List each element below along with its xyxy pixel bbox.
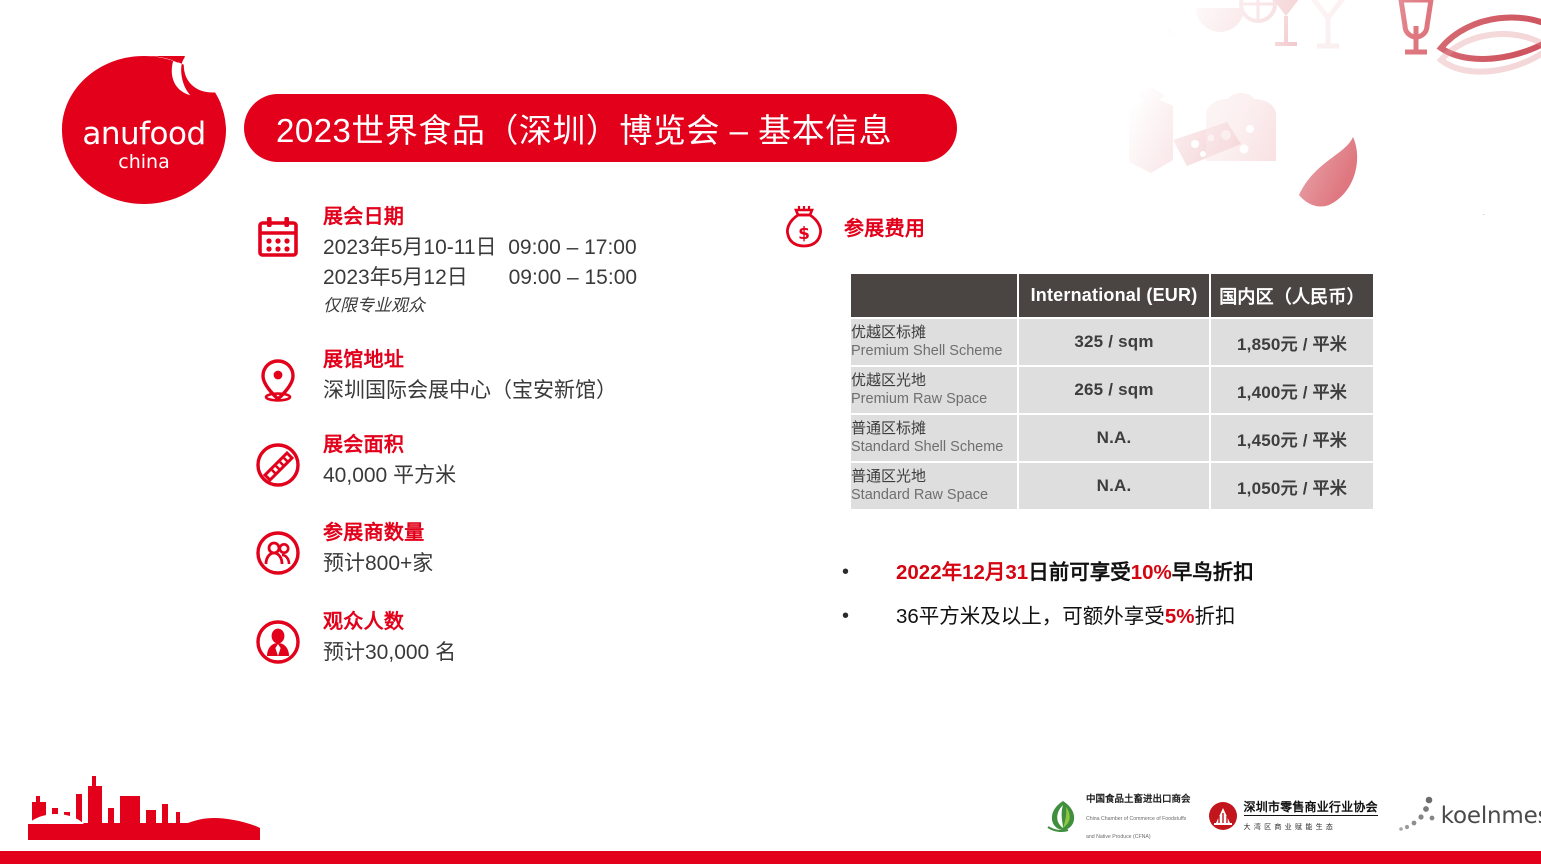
table-header-domestic: 国内区（人民币） bbox=[1211, 274, 1373, 317]
info-title-exhibitors: 参展商数量 bbox=[323, 521, 810, 546]
cell-domestic: 1,050元 / 平米 bbox=[1211, 463, 1373, 509]
table-row: 优越区标摊 Premium Shell Scheme 325 / sqm 1,8… bbox=[851, 319, 1373, 365]
info-line-date-1: 2023年5月10-11日 09:00 – 17:00 bbox=[323, 233, 810, 263]
partner-name-en-2: and Native Produce (CFNA) bbox=[1086, 834, 1151, 840]
table-header-row: International (EUR) 国内区（人民币） bbox=[851, 274, 1373, 317]
person-circle-icon bbox=[250, 614, 306, 670]
page-title: 2023世界食品（深圳）博览会 – 基本信息 bbox=[276, 104, 892, 152]
info-title-dates: 展会日期 bbox=[323, 205, 810, 230]
food-icons-collage bbox=[981, 0, 1541, 215]
cell-international: N.A. bbox=[1019, 463, 1209, 509]
info-block-dates: 展会日期 2023年5月10-11日 09:00 – 17:00 2023年5月… bbox=[250, 205, 810, 318]
partner-koelnmesse: koelnmesse bbox=[1399, 796, 1541, 836]
table-row: 优越区光地 Premium Raw Space 265 / sqm 1,400元… bbox=[851, 367, 1373, 413]
info-block-exhibitors: 参展商数量 预计800+家 bbox=[250, 521, 810, 579]
info-line-area: 40,000 平方米 bbox=[323, 461, 810, 491]
slide-canvas: anufood china 2023世界食品（深圳）博览会 – 基本信息 bbox=[0, 0, 1541, 867]
bullet-seg-red: 10% bbox=[1131, 561, 1172, 584]
fee-section-header: $ 参展费用 bbox=[778, 200, 925, 252]
cell-international: N.A. bbox=[1019, 415, 1209, 461]
red-footer-bar bbox=[0, 851, 1541, 864]
info-title-area: 展会面积 bbox=[323, 433, 810, 458]
list-item: • 36平方米及以上，可额外享受5%折扣 bbox=[838, 602, 1458, 632]
row-label-cn: 优越区标摊 bbox=[851, 323, 1017, 342]
exhibition-price-table: International (EUR) 国内区（人民币） 优越区标摊 Premi… bbox=[849, 272, 1375, 511]
bullet-marker: • bbox=[838, 602, 896, 631]
ruler-circle-icon bbox=[250, 437, 306, 493]
row-label-en: Premium Shell Scheme bbox=[851, 342, 1017, 361]
table-header-international: International (EUR) bbox=[1019, 274, 1209, 317]
info-title-venue: 展馆地址 bbox=[323, 348, 810, 373]
partner-name-en-1: China Chamber of Commerce of Foodstuffs bbox=[1086, 816, 1186, 822]
two-people-circle-icon bbox=[250, 525, 306, 581]
table-row: 普通区光地 Standard Raw Space N.A. 1,050元 / 平… bbox=[851, 463, 1373, 509]
row-label-en: Standard Raw Space bbox=[851, 486, 1017, 505]
bullet-text-early-bird: 2022年12月31日前可享受10%早鸟折扣 bbox=[896, 558, 1254, 588]
anufood-china-logo: anufood china bbox=[62, 56, 226, 204]
row-label-cn: 普通区光地 bbox=[851, 467, 1017, 486]
collage-fade-overlay bbox=[981, 0, 1541, 215]
bullet-seg-black: 折扣 bbox=[1194, 605, 1235, 628]
info-title-visitors: 观众人数 bbox=[323, 610, 810, 635]
fee-section-title: 参展费用 bbox=[844, 212, 925, 241]
cell-domestic: 1,400元 / 平米 bbox=[1211, 367, 1373, 413]
logo-wordmark: anufood china bbox=[62, 56, 226, 204]
svg-text:$: $ bbox=[798, 224, 810, 244]
bullet-text-area-discount: 36平方米及以上，可额外享受5%折扣 bbox=[896, 602, 1235, 632]
table-row: 普通区标摊 Standard Shell Scheme N.A. 1,450元 … bbox=[851, 415, 1373, 461]
info-line-date-2: 2023年5月12日 09:00 – 15:00 bbox=[323, 263, 810, 293]
partner-shenzhen-retail: 深圳市零售商业行业协会 大湾区商业赋能生态 bbox=[1208, 798, 1378, 834]
location-pin-icon bbox=[250, 352, 306, 408]
table-head: International (EUR) 国内区（人民币） bbox=[851, 274, 1373, 317]
bullet-marker: • bbox=[838, 558, 896, 587]
table-header-blank bbox=[851, 274, 1017, 317]
table-body: 优越区标摊 Premium Shell Scheme 325 / sqm 1,8… bbox=[851, 319, 1373, 509]
partner-name-koelnmesse: koelnmesse bbox=[1441, 803, 1541, 829]
bullet-seg-black: 早鸟折扣 bbox=[1172, 561, 1254, 584]
row-label-cn: 普通区标摊 bbox=[851, 419, 1017, 438]
row-label-premium-raw: 优越区光地 Premium Raw Space bbox=[851, 367, 1017, 413]
bullet-seg-red: 5% bbox=[1165, 605, 1195, 628]
logo-subword: china bbox=[118, 150, 169, 176]
partner-name-cn: 深圳市零售商业行业协会 bbox=[1244, 800, 1378, 816]
cell-domestic: 1,450元 / 平米 bbox=[1211, 415, 1373, 461]
bullet-seg-black: 日前可享受 bbox=[1028, 561, 1131, 584]
info-line-exhibitors: 预计800+家 bbox=[323, 549, 810, 579]
event-info-list: 展会日期 2023年5月10-11日 09:00 – 17:00 2023年5月… bbox=[250, 205, 810, 688]
slide-title-banner: 2023世界食品（深圳）博览会 – 基本信息 bbox=[244, 94, 957, 162]
bullet-seg-red: 2022年12月31 bbox=[896, 561, 1028, 584]
cell-international: 325 / sqm bbox=[1019, 319, 1209, 365]
row-label-en: Premium Raw Space bbox=[851, 390, 1017, 409]
row-label-en: Standard Shell Scheme bbox=[851, 438, 1017, 457]
info-line-visitors: 预计30,000 名 bbox=[323, 638, 810, 668]
shenzhen-retail-association-logo bbox=[1208, 801, 1238, 831]
row-label-standard-shell: 普通区标摊 Standard Shell Scheme bbox=[851, 415, 1017, 461]
cell-international: 265 / sqm bbox=[1019, 367, 1209, 413]
calendar-icon bbox=[250, 209, 306, 265]
row-label-cn: 优越区光地 bbox=[851, 371, 1017, 390]
logo-word: anufood bbox=[82, 119, 205, 150]
money-bag-icon: $ bbox=[778, 200, 830, 252]
info-block-visitors: 观众人数 预计30,000 名 bbox=[250, 610, 810, 668]
info-note-dates: 仅限专业观众 bbox=[323, 293, 810, 319]
row-label-standard-raw: 普通区光地 Standard Raw Space bbox=[851, 463, 1017, 509]
info-block-area: 展会面积 40,000 平方米 bbox=[250, 433, 810, 491]
row-label-premium-shell: 优越区标摊 Premium Shell Scheme bbox=[851, 319, 1017, 365]
cfna-leaf-logo bbox=[1046, 799, 1080, 833]
info-block-venue: 展馆地址 深圳国际会展中心（宝安新馆） bbox=[250, 348, 810, 406]
cell-domestic: 1,850元 / 平米 bbox=[1211, 319, 1373, 365]
info-line-venue: 深圳国际会展中心（宝安新馆） bbox=[323, 376, 810, 406]
list-item: • 2022年12月31日前可享受10%早鸟折扣 bbox=[838, 558, 1458, 588]
partner-name-cn: 中国食品土畜进出口商会 bbox=[1086, 794, 1191, 805]
shenzhen-skyline-silhouette bbox=[28, 768, 260, 840]
partner-cfna: 中国食品土畜进出口商会 China Chamber of Commerce of… bbox=[1046, 789, 1191, 843]
partner-name-sub: 大湾区商业赋能生态 bbox=[1244, 824, 1337, 831]
discount-notes: • 2022年12月31日前可享受10%早鸟折扣 • 36平方米及以上，可额外享… bbox=[838, 558, 1458, 645]
partner-logos: 中国食品土畜进出口商会 China Chamber of Commerce of… bbox=[1046, 789, 1541, 843]
koelnmesse-dots-logo bbox=[1399, 796, 1441, 836]
bullet-seg-black: 36平方米及以上，可额外享受 bbox=[896, 605, 1165, 628]
